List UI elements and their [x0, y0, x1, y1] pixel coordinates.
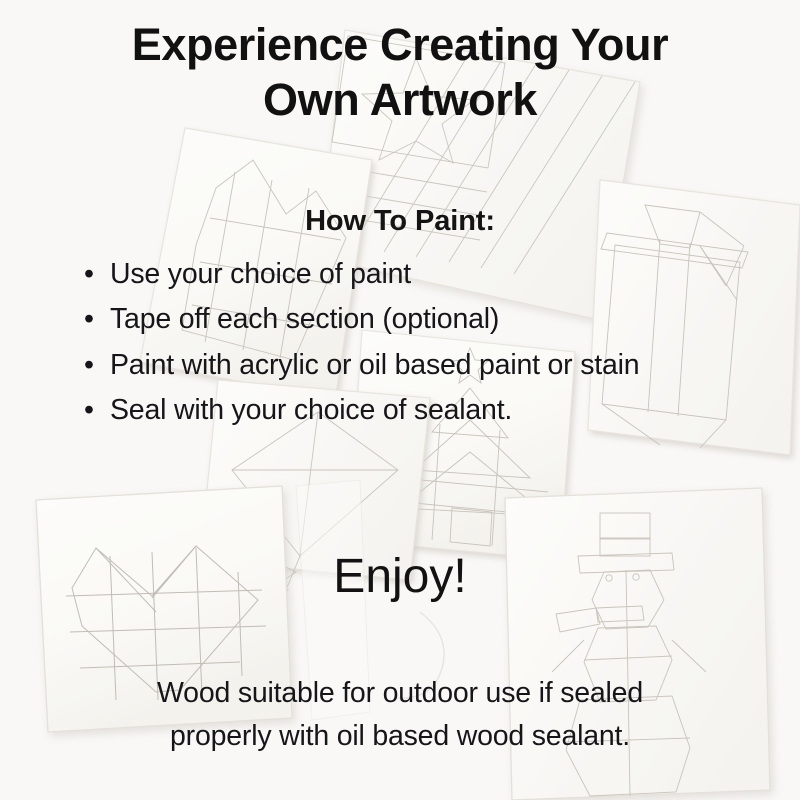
footnote-line-2: properly with oil based wood sealant. — [170, 720, 630, 752]
page-title-line-2: Own Artwork — [263, 74, 537, 125]
page-title-line-1: Experience Creating Your — [132, 19, 668, 70]
list-item: • Seal with your choice of sealant. — [78, 388, 778, 433]
list-item-label: Tape off each section (optional) — [110, 303, 499, 335]
list-item: • Use your choice of paint — [78, 252, 778, 297]
footnote-text: Wood suitable for outdoor use if sealed … — [30, 672, 770, 759]
bullet-icon: • — [84, 252, 94, 297]
list-item-label: Use your choice of paint — [110, 258, 411, 290]
list-item-label: Seal with your choice of sealant. — [110, 394, 512, 426]
instruction-list: • Use your choice of paint • Tape off ea… — [78, 252, 778, 433]
bullet-icon: • — [84, 297, 94, 342]
list-item-label: Paint with acrylic or oil based paint or… — [110, 349, 639, 381]
poster-text-layer: Experience Creating Your Own Artwork How… — [0, 0, 800, 800]
page-title: Experience Creating Your Own Artwork — [40, 18, 760, 128]
bullet-icon: • — [84, 343, 94, 388]
footnote-line-1: Wood suitable for outdoor use if sealed — [157, 677, 643, 709]
bullet-icon: • — [84, 388, 94, 433]
closing-text: Enjoy! — [40, 549, 760, 604]
poster-canvas: Experience Creating Your Own Artwork How… — [0, 0, 800, 800]
list-item: • Paint with acrylic or oil based paint … — [78, 343, 778, 388]
list-item: • Tape off each section (optional) — [78, 297, 778, 342]
how-to-paint-heading: How To Paint: — [40, 205, 760, 238]
